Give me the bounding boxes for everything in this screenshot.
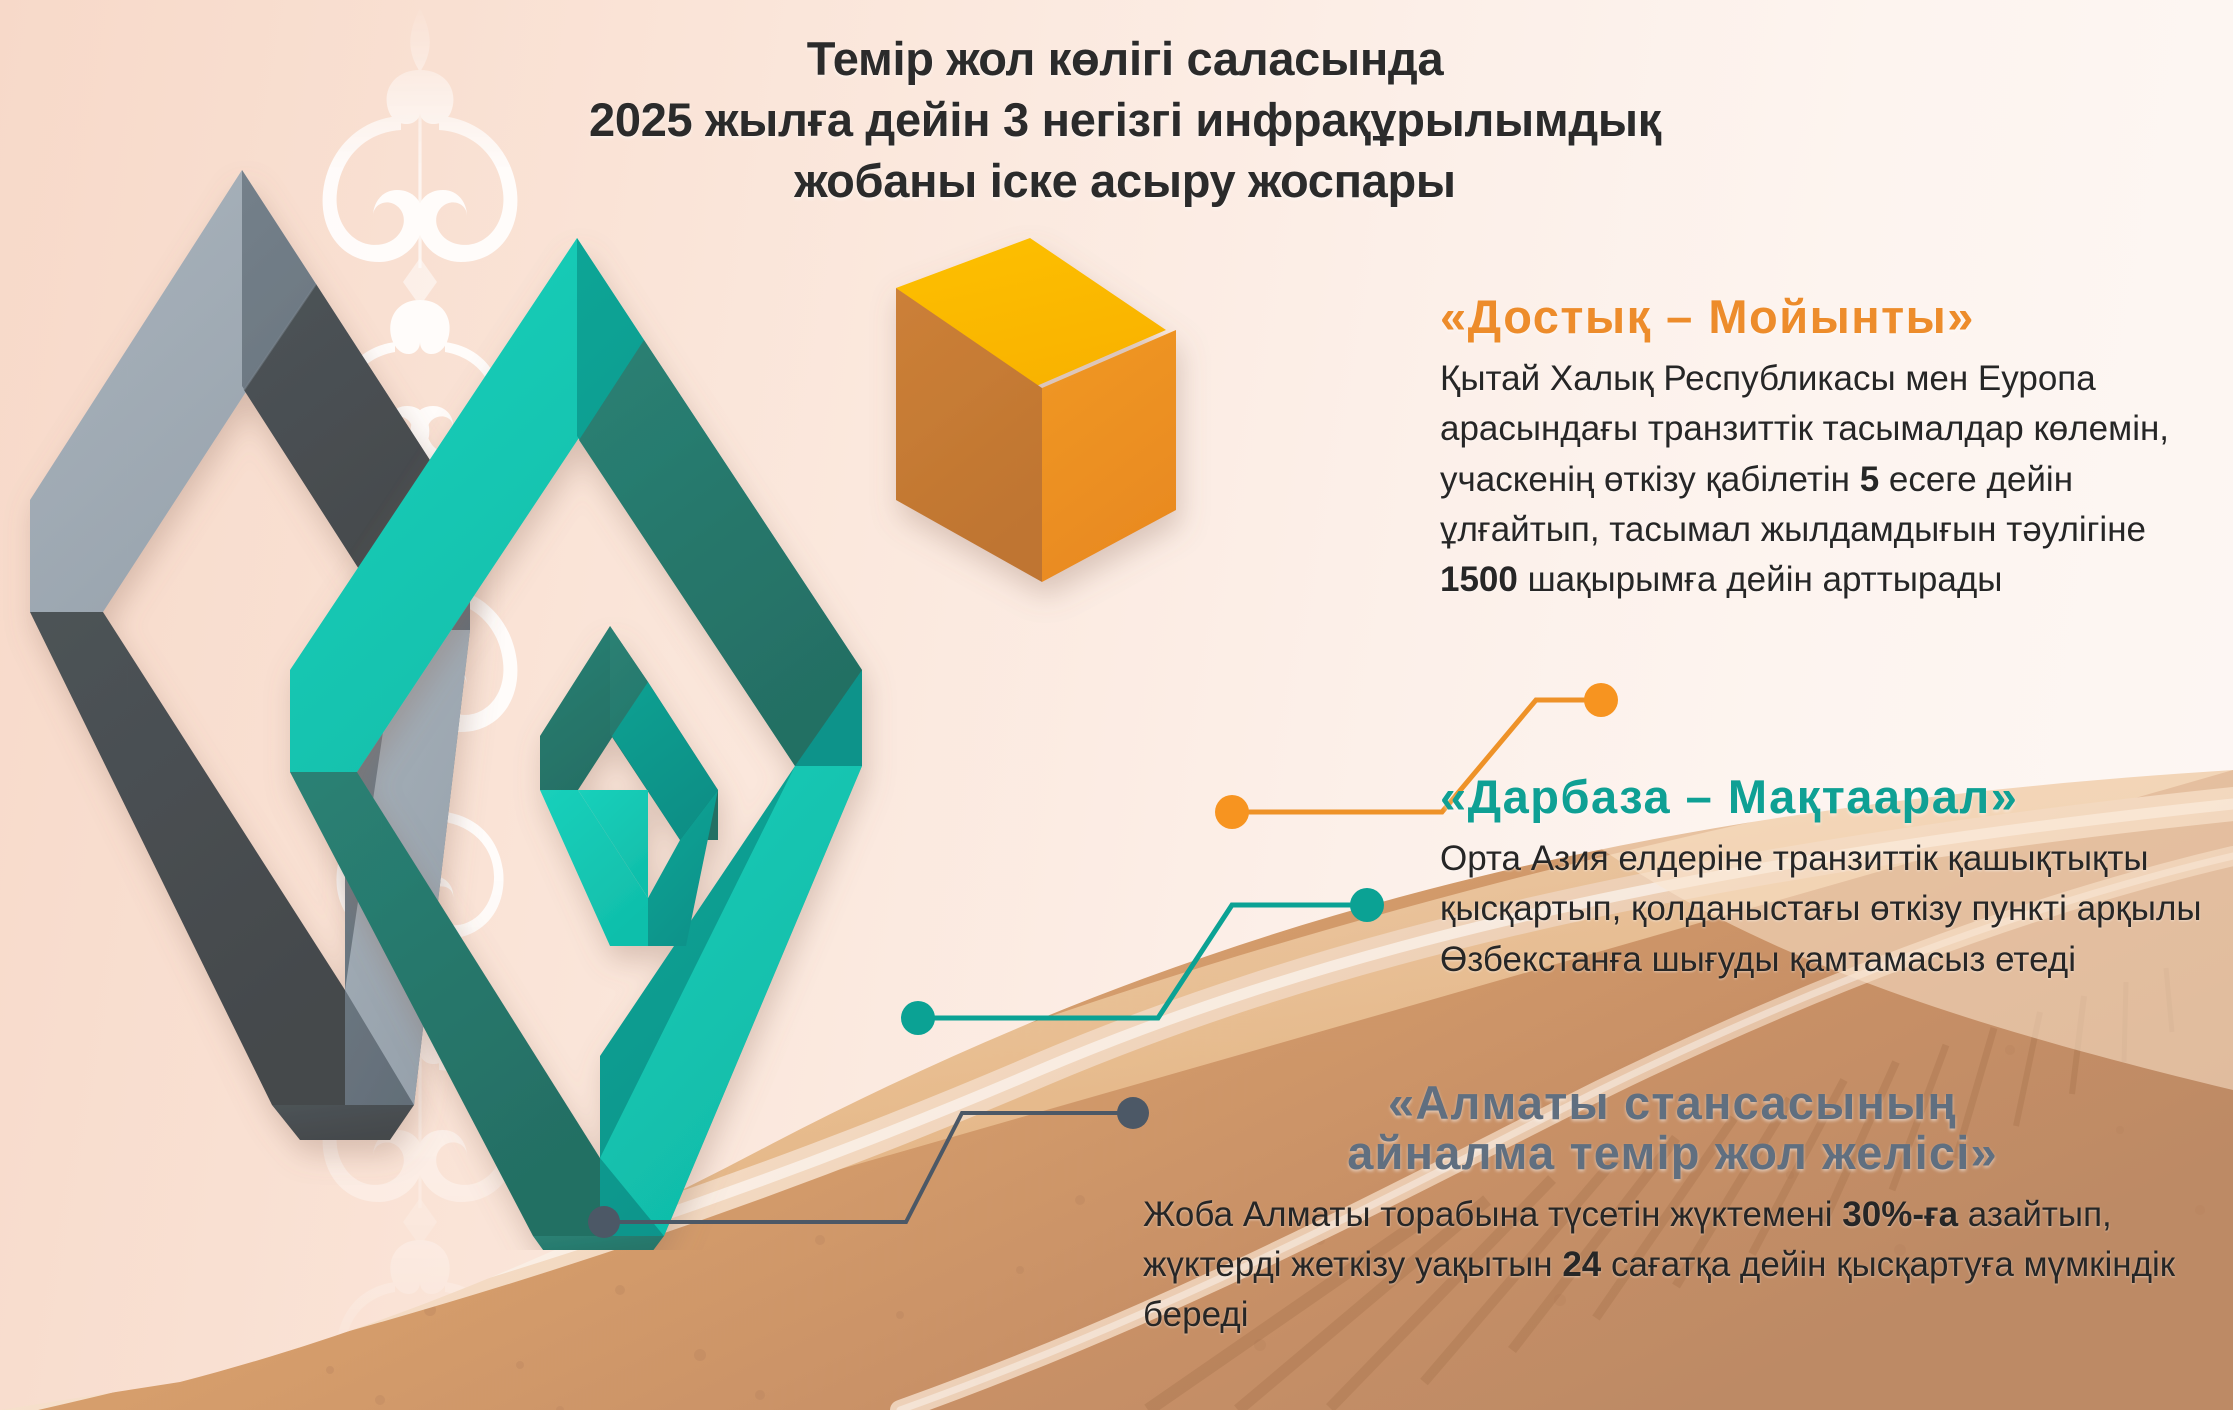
- isometric-logo-art: [0, 150, 1250, 1250]
- project-description: Орта Азия елдеріне транзиттік қашықтықты…: [1440, 834, 2230, 985]
- project-block-almaty-ainalma: «Алматы стансасының айналма темір жол же…: [1125, 1078, 2220, 1341]
- project-block-dostyk-moiynty: «Достық – Мойынты» Қытай Халық Республик…: [1440, 292, 2230, 606]
- project-description: Жоба Алматы торабына түсетін жүктемені 3…: [1125, 1190, 2220, 1341]
- project-description: Қытай Халық Республикасы мен Еуропа арас…: [1440, 354, 2230, 606]
- orange-cube: [890, 238, 1176, 582]
- project-title: «Алматы стансасының айналма темір жол же…: [1125, 1078, 2220, 1178]
- project-title: «Достық – Мойынты»: [1440, 292, 2230, 342]
- infographic-poster: Темір жол көлігі саласында 2025 жылға де…: [0, 0, 2233, 1410]
- project-block-darbaza-maktaaral: «Дарбаза – Мақтаарал» Орта Азия елдеріне…: [1440, 772, 2230, 985]
- project-title: «Дарбаза – Мақтаарал»: [1440, 772, 2230, 822]
